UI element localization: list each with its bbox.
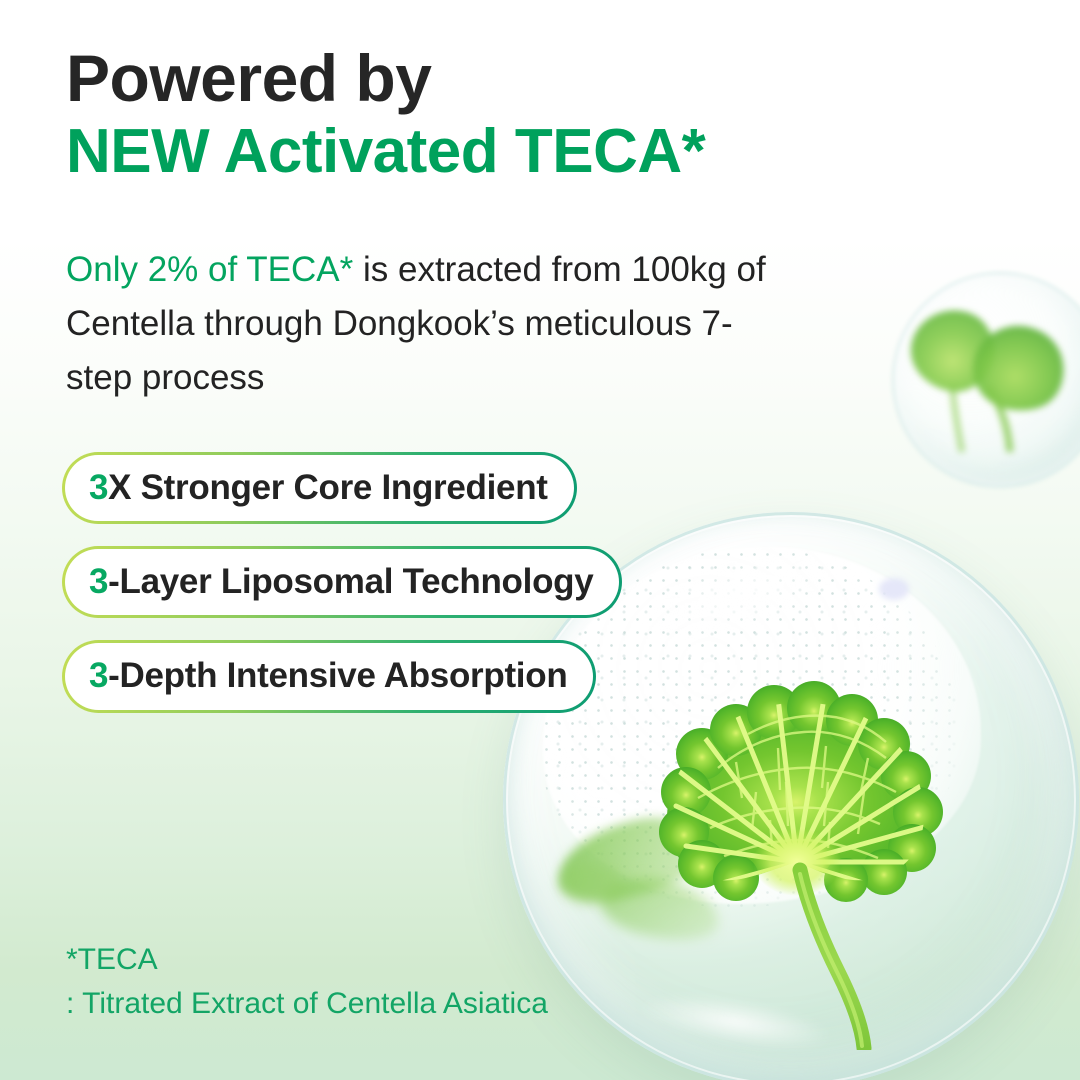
feature-text: -Layer Liposomal Technology: [108, 562, 593, 601]
feature-text: -Depth Intensive Absorption: [108, 656, 567, 695]
feature-list: 3X Stronger Core Ingredient 3-Layer Lipo…: [62, 452, 1080, 735]
feature-pill-label: 3X Stronger Core Ingredient: [65, 455, 574, 521]
headline-block: Powered by NEW Activated TECA*: [66, 44, 705, 186]
feature-pill-core-ingredient: 3X Stronger Core Ingredient: [62, 452, 577, 524]
feature-number: 3: [89, 468, 108, 507]
feature-pill-label: 3-Depth Intensive Absorption: [65, 643, 593, 709]
headline-secondary: NEW Activated TECA*: [66, 119, 705, 186]
feature-number: 3: [89, 656, 108, 695]
headline-primary: Powered by: [66, 44, 705, 113]
feature-pill-intensive-absorption: 3-Depth Intensive Absorption: [62, 640, 596, 712]
footnote-definition: : Titrated Extract of Centella Asiatica: [66, 982, 548, 1026]
lede-accent-text: Only 2% of TECA*: [66, 250, 353, 289]
content-layer: Powered by NEW Activated TECA* Only 2% o…: [0, 0, 1080, 1080]
footnote: *TECA : Titrated Extract of Centella Asi…: [66, 938, 548, 1027]
feature-text: X Stronger Core Ingredient: [108, 468, 547, 507]
product-infographic-poster: Powered by NEW Activated TECA* Only 2% o…: [0, 0, 1080, 1080]
footnote-term: *TECA: [66, 938, 548, 982]
feature-number: 3: [89, 562, 108, 601]
lede-paragraph: Only 2% of TECA* is extracted from 100kg…: [66, 243, 766, 405]
feature-pill-label: 3-Layer Liposomal Technology: [65, 549, 619, 615]
feature-pill-liposomal-technology: 3-Layer Liposomal Technology: [62, 546, 622, 618]
